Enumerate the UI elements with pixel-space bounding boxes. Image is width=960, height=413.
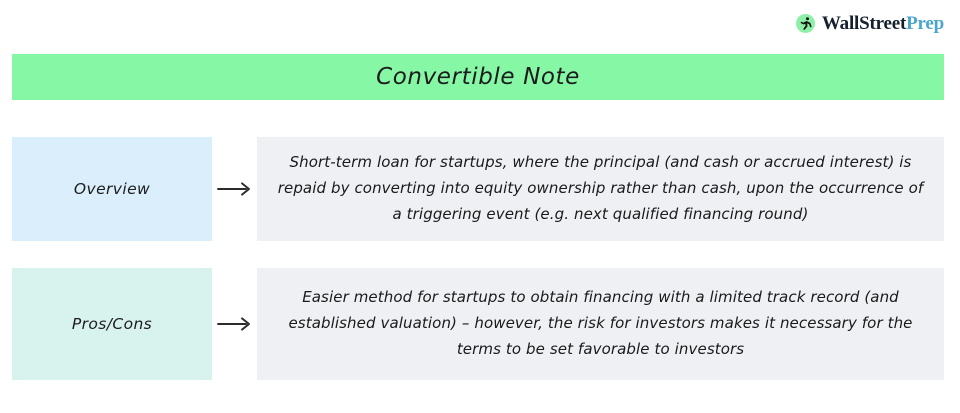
content-panel-overview: Short-term loan for startups, where the … bbox=[257, 137, 944, 241]
brand-word-street: Street bbox=[859, 13, 906, 34]
row-overview: Overview Short-term loan for startups, w… bbox=[12, 137, 944, 241]
content-panel-proscons: Easier method for startups to obtain fin… bbox=[257, 268, 944, 380]
page-title-banner: Convertible Note bbox=[12, 54, 944, 100]
label-overview: Overview bbox=[74, 180, 150, 198]
running-figure-icon bbox=[796, 14, 815, 33]
content-text-proscons: Easier method for startups to obtain fin… bbox=[271, 285, 930, 362]
label-proscons: Pros/Cons bbox=[72, 315, 152, 333]
label-box-overview: Overview bbox=[12, 137, 212, 241]
brand-word-prep: Prep bbox=[906, 13, 944, 34]
right-arrow-icon bbox=[212, 268, 257, 380]
brand-word-wall: Wall bbox=[822, 13, 859, 34]
page-title: Convertible Note bbox=[376, 64, 580, 90]
brand-wordmark: WallStreetPrep bbox=[822, 14, 944, 33]
right-arrow-icon bbox=[212, 137, 257, 241]
content-text-overview: Short-term loan for startups, where the … bbox=[271, 150, 930, 227]
row-proscons: Pros/Cons Easier method for startups to … bbox=[12, 268, 944, 380]
brand-logo: WallStreetPrep bbox=[796, 11, 944, 35]
label-box-proscons: Pros/Cons bbox=[12, 268, 212, 380]
